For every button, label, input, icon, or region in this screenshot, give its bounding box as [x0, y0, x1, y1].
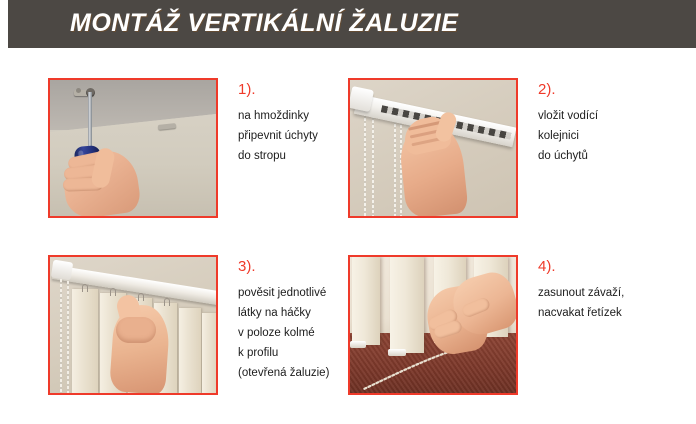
caption-line: vložit vodící	[538, 106, 688, 126]
control-cord	[60, 279, 62, 393]
slat-hook	[82, 284, 88, 292]
caption-line: nacvakat řetízek	[538, 303, 688, 323]
knuckles	[116, 317, 156, 343]
vertical-slat	[352, 257, 380, 345]
photo-insert-rail-into-brackets	[350, 80, 516, 216]
caption-step-4: 4). zasunout závaží, nacvakat řetízek	[538, 259, 688, 323]
caption-step-2: 2). vložit vodící kolejnici do úchytů	[538, 82, 688, 166]
vertical-slat	[202, 313, 216, 393]
photo-screwdriver-ceiling-bracket	[50, 80, 216, 216]
slat-hook	[110, 288, 116, 296]
control-cord	[372, 110, 374, 216]
photo-frame-step-2	[348, 78, 518, 218]
vertical-slat	[72, 289, 98, 393]
slat-hook	[164, 298, 170, 306]
rail-end-cap	[51, 260, 74, 281]
control-cord	[67, 281, 69, 393]
photo-hang-slats-on-hooks	[50, 257, 216, 393]
caption-line: zasunout závaží,	[538, 283, 688, 303]
header-bar: MONTÁŽ VERTIKÁLNÍ ŽALUZIE	[8, 0, 696, 48]
step-number: 4).	[538, 259, 688, 274]
caption-line: kolejnici	[538, 126, 688, 146]
step-number: 2).	[538, 82, 688, 97]
photo-frame-step-1	[48, 78, 218, 218]
vertical-slat	[179, 308, 201, 393]
photo-frame-step-4	[348, 255, 518, 395]
page-title: MONTÁŽ VERTIKÁLNÍ ŽALUZIE	[70, 9, 458, 38]
control-cord	[364, 108, 366, 216]
photo-attach-weights-and-chain	[350, 257, 516, 393]
screwdriver-shaft	[88, 92, 92, 150]
vertical-slat	[390, 257, 424, 353]
photo-frame-step-3	[48, 255, 218, 395]
control-cord	[394, 114, 396, 216]
caption-line: do úchytů	[538, 146, 688, 166]
slat-hook	[138, 293, 144, 301]
